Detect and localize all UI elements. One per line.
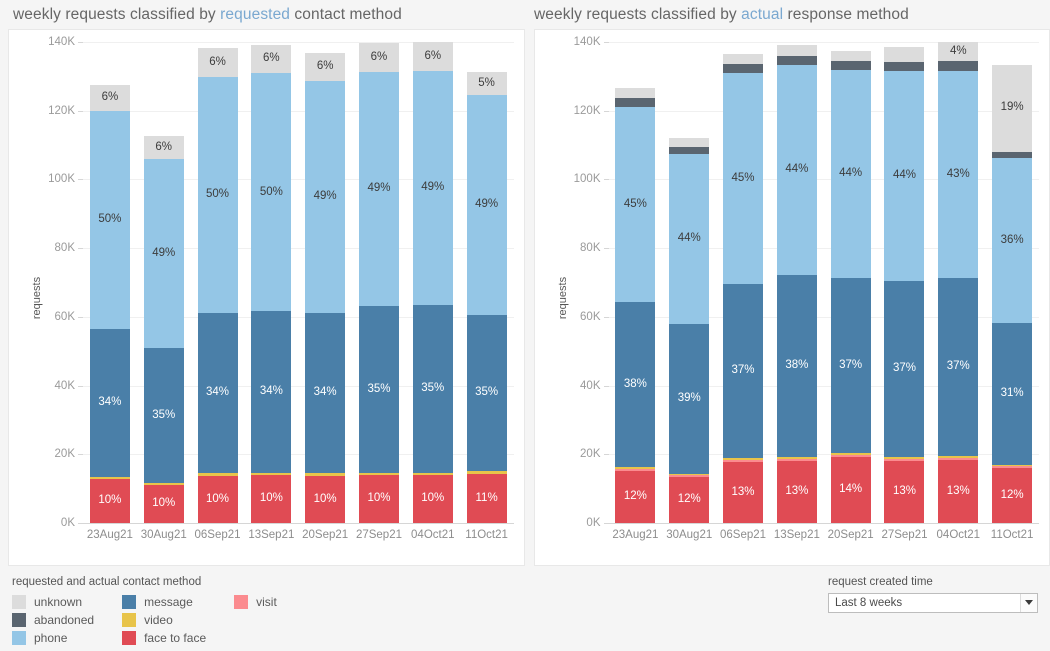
segment-percent-label: 6% [102, 92, 119, 104]
segment-percent-label: 13% [947, 486, 970, 498]
plot-area-right: 12%38%45%12%39%44%13%37%45%13%38%44%14%3… [609, 42, 1040, 523]
bar-segment-abandoned[interactable] [831, 61, 871, 70]
y-tick-label: 100K [574, 173, 601, 185]
bar-segment-abandoned[interactable] [884, 62, 924, 72]
bar-segment-face-to-face[interactable]: 13% [777, 461, 817, 523]
segment-percent-label: 11% [476, 493, 498, 505]
x-tick-label: 27Sep21 [878, 529, 932, 541]
bar-segment-video[interactable] [144, 483, 184, 485]
x-tick-label: 11Oct21 [460, 529, 514, 541]
bar-segment-unknown[interactable] [723, 54, 763, 64]
legend-swatch [12, 613, 26, 627]
legend-label: video [144, 613, 173, 627]
left-chart-title: weekly requests classified by requested … [0, 6, 525, 24]
bar-segment-abandoned[interactable] [615, 98, 655, 107]
bar-segment-face-to-face[interactable]: 13% [723, 462, 763, 523]
right-title-highlight: actual [741, 6, 783, 23]
legend-swatch [122, 613, 136, 627]
right-title-post: response method [783, 6, 909, 23]
segment-percent-label: 10% [98, 495, 121, 507]
y-tick-label: 80K [580, 242, 600, 254]
stacked-bar[interactable]: 11%35%49%5% [467, 72, 507, 523]
bar-segment-message[interactable]: 37% [831, 278, 871, 453]
bar-segment-video[interactable] [992, 465, 1032, 466]
filter-title: request created time [828, 576, 1038, 588]
segment-percent-label: 35% [367, 384, 390, 396]
bar-segment-unknown[interactable] [669, 138, 709, 146]
stacked-bar[interactable]: 14%37%44% [831, 51, 871, 523]
legend-swatch [12, 595, 26, 609]
bar-segment-unknown[interactable]: 6% [251, 45, 291, 74]
legend-item-face-to-face[interactable]: face to face [122, 629, 206, 647]
legend-column: messagevideoface to face [122, 593, 206, 647]
legend-label: message [144, 595, 193, 609]
bar-segment-message[interactable]: 37% [723, 284, 763, 458]
bar-segment-video[interactable] [884, 457, 924, 459]
legend-item-abandoned[interactable]: abandoned [12, 611, 94, 629]
chevron-down-icon[interactable] [1020, 594, 1037, 612]
bar-column[interactable]: 13%37%43%4% [931, 42, 985, 523]
legend: requested and actual contact method unkn… [0, 566, 305, 651]
bar-segment-abandoned[interactable] [992, 152, 1032, 159]
y-tick-label: 40K [55, 380, 75, 392]
bar-segment-visit[interactable] [669, 475, 709, 477]
bar-segment-visit[interactable] [723, 460, 763, 462]
footer: requested and actual contact method unkn… [0, 566, 1050, 651]
titles-row: weekly requests classified by requested … [0, 0, 1050, 29]
bar-segment-unknown[interactable]: 6% [305, 53, 345, 81]
bar-column[interactable]: 10%35%49%6% [406, 42, 460, 523]
segment-percent-label: 13% [893, 486, 916, 498]
bar-segment-phone[interactable]: 50% [198, 77, 238, 313]
bar-segment-unknown[interactable] [884, 47, 924, 62]
bar-segment-video[interactable] [90, 477, 130, 479]
bar-segment-phone[interactable]: 43% [938, 71, 978, 278]
bar-segment-face-to-face[interactable]: 10% [359, 475, 399, 523]
segment-percent-label: 5% [478, 78, 495, 90]
segment-percent-label: 10% [152, 498, 175, 510]
bar-segment-face-to-face[interactable]: 12% [669, 477, 709, 523]
bar-segment-video[interactable] [938, 456, 978, 458]
x-tick-label: 06Sep21 [191, 529, 245, 541]
legend-swatch [234, 595, 248, 609]
bar-segment-face-to-face[interactable]: 12% [615, 471, 655, 523]
bar-segment-message[interactable]: 38% [615, 302, 655, 467]
bar-segment-phone[interactable]: 50% [90, 111, 130, 329]
bars-right: 12%38%45%12%39%44%13%37%45%13%38%44%14%3… [609, 42, 1040, 523]
legend-item-visit[interactable]: visit [234, 593, 277, 611]
legend-swatch [12, 631, 26, 645]
x-tick-label: 23Aug21 [609, 529, 663, 541]
legend-swatch [122, 595, 136, 609]
bar-segment-face-to-face[interactable]: 11% [467, 474, 507, 523]
segment-percent-label: 6% [317, 61, 334, 73]
bar-segment-video[interactable] [413, 473, 453, 475]
bar-segment-video[interactable] [359, 473, 399, 475]
bar-column[interactable]: 13%37%45% [716, 42, 770, 523]
x-tick-label: 27Sep21 [352, 529, 406, 541]
bar-segment-phone[interactable]: 49% [305, 81, 345, 312]
stacked-bar[interactable]: 12%39%44% [669, 138, 709, 523]
y-tick-label: 20K [580, 448, 600, 460]
bar-segment-unknown[interactable]: 6% [144, 136, 184, 159]
legend-item-unknown[interactable]: unknown [12, 593, 94, 611]
bar-segment-phone[interactable]: 45% [723, 73, 763, 284]
stacked-bar[interactable]: 12%31%36%19% [992, 65, 1032, 523]
bar-column[interactable]: 10%34%50%6% [191, 42, 245, 523]
x-tick-label: 23Aug21 [83, 529, 137, 541]
bar-segment-message[interactable]: 35% [467, 315, 507, 472]
y-axis-right: 140K120K100K80K60K40K20K0K [557, 42, 609, 523]
segment-percent-label: 12% [1001, 490, 1024, 502]
segment-percent-label: 10% [260, 493, 283, 505]
bar-segment-abandoned[interactable] [669, 147, 709, 155]
legend-item-phone[interactable]: phone [12, 629, 94, 647]
y-tick-label: 0K [586, 517, 600, 529]
stacked-bar[interactable]: 13%38%44% [777, 45, 817, 523]
bar-segment-face-to-face[interactable]: 10% [413, 475, 453, 523]
segment-percent-label: 38% [785, 360, 808, 372]
segment-percent-label: 44% [785, 164, 808, 176]
y-tick-label: 40K [580, 380, 600, 392]
y-tick-label: 120K [48, 105, 75, 117]
segment-percent-label: 4% [950, 46, 967, 58]
y-axis-left: 140K120K100K80K60K40K20K0K [31, 42, 83, 523]
segment-percent-label: 37% [893, 363, 916, 375]
segment-percent-label: 44% [678, 233, 701, 245]
bar-segment-unknown[interactable] [777, 45, 817, 55]
segment-percent-label: 35% [421, 383, 444, 395]
segment-percent-label: 34% [314, 387, 337, 399]
bar-segment-unknown[interactable]: 6% [359, 43, 399, 72]
segment-percent-label: 50% [206, 189, 229, 201]
legend-item-message[interactable]: message [122, 593, 206, 611]
select-value: Last 8 weeks [829, 597, 1020, 609]
segment-percent-label: 19% [1001, 102, 1024, 114]
bar-segment-phone[interactable]: 49% [467, 95, 507, 315]
stacked-bar[interactable]: 13%37%44% [884, 47, 924, 523]
bar-segment-unknown[interactable]: 5% [467, 72, 507, 94]
bar-segment-unknown[interactable]: 6% [413, 42, 453, 71]
segment-percent-label: 50% [260, 187, 283, 199]
legend-label: visit [256, 595, 277, 609]
plot-area-left: 10%34%50%6%10%35%49%6%10%34%50%6%10%34%5… [83, 42, 514, 523]
legend-columns: unknownabandonedphonemessagevideoface to… [12, 593, 305, 647]
bar-segment-phone[interactable]: 44% [669, 154, 709, 323]
bar-segment-visit[interactable] [777, 459, 817, 461]
bar-segment-video[interactable] [723, 458, 763, 460]
bar-segment-video[interactable] [831, 453, 871, 455]
bar-segment-face-to-face[interactable]: 13% [938, 460, 978, 523]
bar-segment-video[interactable] [251, 473, 291, 475]
bar-segment-unknown[interactable]: 6% [90, 85, 130, 111]
bar-segment-phone[interactable]: 36% [992, 158, 1032, 322]
legend-swatch [122, 631, 136, 645]
segment-percent-label: 6% [155, 142, 172, 154]
bar-segment-message[interactable]: 34% [90, 329, 130, 477]
bar-segment-phone[interactable]: 50% [251, 73, 291, 311]
bar-segment-face-to-face[interactable]: 14% [831, 457, 871, 523]
segment-percent-label: 49% [475, 199, 498, 211]
bar-segment-abandoned[interactable] [723, 64, 763, 73]
bar-segment-visit[interactable] [938, 458, 978, 460]
bar-segment-visit[interactable] [615, 469, 655, 471]
stacked-bar[interactable]: 10%35%49%6% [144, 136, 184, 523]
y-tick-label: 80K [55, 242, 75, 254]
bar-segment-video[interactable] [669, 474, 709, 475]
bar-segment-face-to-face[interactable]: 10% [251, 475, 291, 523]
bar-segment-face-to-face[interactable]: 10% [144, 485, 184, 523]
segment-percent-label: 31% [1001, 388, 1024, 400]
bar-segment-video[interactable] [305, 473, 345, 475]
x-axis-left: 23Aug2130Aug2106Sep2113Sep2120Sep2127Sep… [83, 529, 514, 551]
bar-segment-phone[interactable]: 44% [831, 70, 871, 278]
charts-row: requests 140K120K100K80K60K40K20K0K 10%3… [0, 29, 1050, 566]
stacked-bar[interactable]: 13%37%45% [723, 54, 763, 523]
segment-percent-label: 45% [624, 199, 647, 211]
filter-panel: request created time Last 8 weeks [828, 566, 1050, 651]
bar-column[interactable]: 12%38%45% [609, 42, 663, 523]
y-tick-label: 60K [580, 311, 600, 323]
x-tick-label: 20Sep21 [298, 529, 352, 541]
segment-percent-label: 10% [206, 494, 229, 506]
bar-segment-video[interactable] [777, 457, 817, 459]
right-chart-title: weekly requests classified by actual res… [525, 6, 1050, 24]
stacked-bar[interactable]: 10%34%50%6% [90, 84, 130, 523]
bar-column[interactable]: 10%34%50%6% [83, 42, 137, 523]
x-axis-rule-right [609, 523, 1040, 524]
bar-segment-phone[interactable]: 44% [777, 65, 817, 275]
y-tick-label: 20K [55, 448, 75, 460]
right-title-pre: weekly requests classified by [534, 6, 741, 23]
bar-column[interactable]: 10%35%49%6% [137, 42, 191, 523]
x-tick-label: 04Oct21 [406, 529, 460, 541]
segment-percent-label: 37% [839, 360, 862, 372]
segment-percent-label: 35% [475, 387, 498, 399]
bar-segment-phone[interactable]: 44% [884, 71, 924, 280]
segment-percent-label: 10% [421, 493, 444, 505]
left-title-post: contact method [290, 6, 402, 23]
segment-percent-label: 49% [367, 183, 390, 195]
bar-column[interactable]: 13%38%44% [770, 42, 824, 523]
bar-segment-visit[interactable] [884, 459, 924, 461]
dashboard-root: weekly requests classified by requested … [0, 0, 1050, 651]
segment-percent-label: 39% [678, 393, 701, 405]
segment-percent-label: 37% [947, 361, 970, 373]
y-tick-label: 0K [61, 517, 75, 529]
legend-title: requested and actual contact method [12, 576, 305, 588]
bar-segment-visit[interactable] [992, 466, 1032, 468]
bar-segment-abandoned[interactable] [777, 56, 817, 66]
x-tick-label: 13Sep21 [770, 529, 824, 541]
segment-percent-label: 44% [839, 168, 862, 180]
segment-percent-label: 49% [314, 191, 337, 203]
segment-percent-label: 12% [678, 494, 701, 506]
chart-panel-actual: requests 140K120K100K80K60K40K20K0K 12%3… [534, 29, 1050, 566]
segment-percent-label: 6% [371, 52, 388, 64]
x-tick-label: 20Sep21 [824, 529, 878, 541]
legend-label: face to face [144, 631, 206, 645]
stacked-bar[interactable]: 12%38%45% [615, 88, 655, 523]
bar-segment-video[interactable] [615, 467, 655, 468]
bar-segment-message[interactable]: 39% [669, 324, 709, 474]
bar-segment-video[interactable] [467, 471, 507, 473]
x-tick-label: 30Aug21 [137, 529, 191, 541]
bar-segment-message[interactable]: 34% [251, 311, 291, 473]
legend-column: visit [234, 593, 277, 647]
segment-percent-label: 35% [152, 410, 175, 422]
segment-percent-label: 36% [1001, 235, 1024, 247]
left-title-highlight: requested [220, 6, 290, 23]
segment-percent-label: 10% [367, 493, 390, 505]
bar-segment-message[interactable]: 37% [884, 281, 924, 457]
legend-label: unknown [34, 595, 82, 609]
legend-item-video[interactable]: video [122, 611, 206, 629]
bar-segment-unknown[interactable]: 4% [938, 42, 978, 61]
request-created-time-select[interactable]: Last 8 weeks [828, 593, 1038, 613]
bar-column[interactable]: 10%34%50%6% [244, 42, 298, 523]
bar-segment-face-to-face[interactable]: 13% [884, 461, 924, 523]
bar-segment-message[interactable]: 37% [938, 278, 978, 456]
left-title-pre: weekly requests classified by [13, 6, 220, 23]
bar-column[interactable]: 12%39%44% [662, 42, 716, 523]
bar-segment-unknown[interactable]: 6% [198, 48, 238, 76]
segment-percent-label: 12% [624, 491, 647, 503]
bar-segment-message[interactable]: 35% [144, 348, 184, 483]
segment-percent-label: 44% [893, 170, 916, 182]
bar-segment-phone[interactable]: 45% [615, 107, 655, 303]
stacked-bar[interactable]: 13%37%43%4% [938, 42, 978, 523]
bar-segment-phone[interactable]: 49% [413, 71, 453, 306]
bar-segment-message[interactable]: 34% [198, 313, 238, 474]
x-tick-label: 13Sep21 [244, 529, 298, 541]
segment-percent-label: 10% [314, 494, 337, 506]
bar-column[interactable]: 12%31%36%19% [985, 42, 1039, 523]
segment-percent-label: 34% [260, 386, 283, 398]
stacked-bar[interactable]: 10%34%50%6% [251, 45, 291, 523]
x-tick-label: 11Oct21 [985, 529, 1039, 541]
bar-segment-abandoned[interactable] [938, 61, 978, 71]
segment-percent-label: 34% [206, 387, 229, 399]
segment-percent-label: 13% [785, 486, 808, 498]
bar-segment-phone[interactable]: 49% [359, 72, 399, 306]
x-tick-label: 30Aug21 [662, 529, 716, 541]
bar-segment-message[interactable]: 38% [777, 275, 817, 456]
x-tick-label: 06Sep21 [716, 529, 770, 541]
segment-percent-label: 6% [424, 51, 441, 63]
stacked-bar[interactable]: 10%34%50%6% [198, 48, 238, 523]
segment-percent-label: 37% [732, 365, 755, 377]
segment-percent-label: 50% [98, 214, 121, 226]
bar-segment-face-to-face[interactable]: 10% [305, 476, 345, 523]
segment-percent-label: 49% [421, 182, 444, 194]
y-tick-label: 100K [48, 173, 75, 185]
chart-panel-requested: requests 140K120K100K80K60K40K20K0K 10%3… [8, 29, 525, 566]
bar-column[interactable]: 13%37%44% [878, 42, 932, 523]
segment-percent-label: 34% [98, 397, 121, 409]
bar-segment-message[interactable]: 35% [413, 305, 453, 473]
legend-column: unknownabandonedphone [12, 593, 94, 647]
segment-percent-label: 14% [839, 484, 862, 496]
bar-column[interactable]: 10%35%49%6% [352, 42, 406, 523]
bar-segment-message[interactable]: 34% [305, 313, 345, 474]
x-axis-right: 23Aug2130Aug2106Sep2113Sep2120Sep2127Sep… [609, 529, 1040, 551]
bar-segment-video[interactable] [198, 473, 238, 475]
y-tick-label: 140K [48, 36, 75, 48]
segment-percent-label: 45% [732, 173, 755, 185]
bar-column[interactable]: 11%35%49%5% [460, 42, 514, 523]
y-tick-label: 140K [574, 36, 601, 48]
bar-column[interactable]: 10%34%49%6% [298, 42, 352, 523]
stacked-bar[interactable]: 10%34%49%6% [305, 53, 345, 523]
bar-segment-unknown[interactable] [615, 88, 655, 98]
bar-column[interactable]: 14%37%44% [824, 42, 878, 523]
legend-label: phone [34, 631, 67, 645]
bar-segment-unknown[interactable]: 19% [992, 65, 1032, 152]
bar-segment-unknown[interactable] [831, 51, 871, 61]
segment-percent-label: 6% [209, 57, 226, 69]
y-tick-label: 60K [55, 311, 75, 323]
bar-segment-face-to-face[interactable]: 10% [90, 479, 130, 523]
x-axis-rule-left [83, 523, 514, 524]
bar-segment-message[interactable]: 31% [992, 323, 1032, 465]
segment-percent-label: 13% [732, 487, 755, 499]
bar-segment-phone[interactable]: 49% [144, 159, 184, 348]
bar-segment-message[interactable]: 35% [359, 306, 399, 473]
bars-left: 10%34%50%6%10%35%49%6%10%34%50%6%10%34%5… [83, 42, 514, 523]
x-tick-label: 04Oct21 [931, 529, 985, 541]
segment-percent-label: 43% [947, 169, 970, 181]
segment-percent-label: 6% [263, 53, 280, 65]
stacked-bar[interactable]: 10%35%49%6% [359, 43, 399, 523]
bar-segment-visit[interactable] [831, 455, 871, 457]
legend-label: abandoned [34, 613, 94, 627]
bar-segment-face-to-face[interactable]: 10% [198, 476, 238, 523]
bar-segment-face-to-face[interactable]: 12% [992, 468, 1032, 523]
segment-percent-label: 49% [152, 248, 175, 260]
stacked-bar[interactable]: 10%35%49%6% [413, 42, 453, 523]
segment-percent-label: 38% [624, 379, 647, 391]
y-tick-label: 120K [574, 105, 601, 117]
